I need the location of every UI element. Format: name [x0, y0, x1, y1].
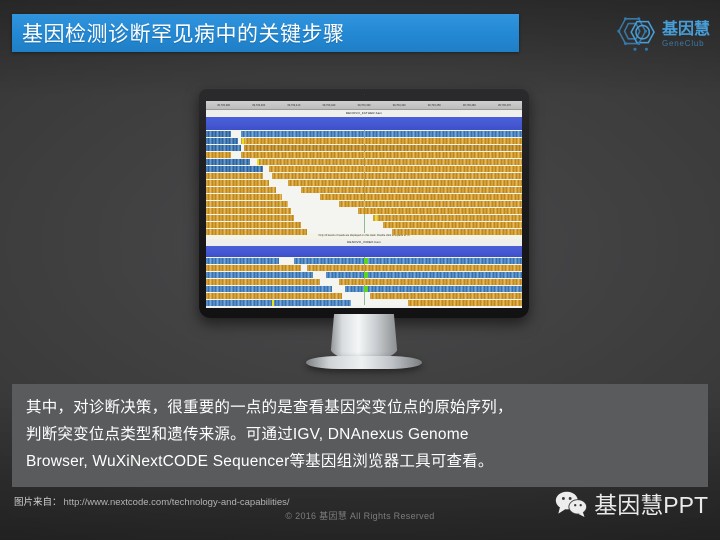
brand-name-cn: 基因慧 — [662, 22, 710, 38]
igv-read-row — [206, 222, 522, 228]
ruler-tick: 39,703,420 — [311, 104, 346, 107]
ruler-tick: 39,703,460 — [452, 104, 487, 107]
igv-coverage-track-top — [206, 117, 522, 130]
ruler-tick: 39,703,400 — [241, 104, 276, 107]
wechat-icon — [554, 490, 588, 517]
igv-read-row — [206, 279, 522, 285]
igv-track-label-top: DENOVO_FATHER.bam — [206, 110, 522, 117]
ruler-tick: 39,703,470 — [487, 104, 522, 107]
monitor-stand-neck — [330, 314, 398, 360]
brand-name-en: GeneClub — [662, 40, 710, 48]
igv-read-row — [206, 229, 522, 235]
source-label: 图片来自： — [14, 494, 62, 508]
igv-read-row — [206, 173, 522, 179]
slide-title-bar: 基因检测诊断罕见病中的关键步骤 — [12, 14, 519, 52]
igv-read-pileup-bottom — [206, 257, 522, 305]
hexagon-gc-logo-icon — [614, 15, 656, 55]
igv-read-row — [206, 300, 522, 306]
igv-read-row — [206, 293, 522, 299]
page-title: 基因检测诊断罕见病中的关键步骤 — [12, 18, 345, 48]
caption-box: 其中，对诊断决策，很重要的一点的是查看基因突变位点的原始序列， 判断突变位点类型… — [12, 384, 708, 487]
igv-track-label-bottom: DENOVO_INDEX.bam — [206, 239, 522, 246]
igv-read-row — [206, 286, 522, 292]
igv-read-pileup-top — [206, 130, 522, 233]
igv-read-row — [206, 194, 522, 200]
igv-coordinate-ruler: 39,703,390 39,703,400 39,703,410 39,703,… — [206, 101, 522, 110]
igv-coverage-track-bottom — [206, 246, 522, 257]
igv-read-row — [206, 145, 522, 151]
ruler-tick: 39,703,450 — [417, 104, 452, 107]
igv-read-row — [206, 265, 522, 271]
igv-screenshot: 39,703,390 39,703,400 39,703,410 39,703,… — [206, 101, 522, 308]
webcam-icon — [363, 93, 366, 96]
wechat-account-badge: 基因慧PPT — [554, 486, 708, 520]
brand-text: 基因慧 GeneClub — [662, 22, 710, 48]
caption-line-3: Browser, WuXiNextCODE Sequencer等基因组浏览器工具… — [26, 448, 694, 475]
wechat-label: 基因慧PPT — [594, 486, 708, 520]
brand-logo: 基因慧 GeneClub — [614, 15, 710, 55]
ruler-tick: 39,703,440 — [382, 104, 417, 107]
igv-read-row — [206, 180, 522, 186]
ruler-tick: 39,703,410 — [276, 104, 311, 107]
source-url[interactable]: http://www.nextcode.com/technology-and-c… — [64, 497, 290, 508]
igv-read-row — [206, 166, 522, 172]
image-source-credit: 图片来自： http://www.nextcode.com/technology… — [14, 494, 290, 508]
ruler-tick: 39,703,430 — [346, 104, 381, 107]
igv-read-row — [206, 215, 522, 221]
igv-read-row — [206, 152, 522, 158]
igv-read-row — [206, 138, 522, 144]
igv-read-row — [206, 159, 522, 165]
caption-line-1: 其中，对诊断决策，很重要的一点的是查看基因突变位点的原始序列， — [26, 394, 694, 421]
monitor-mockup: 39,703,390 39,703,400 39,703,410 39,703,… — [199, 88, 529, 318]
igv-read-row — [206, 208, 522, 214]
caption-line-2: 判断突变位点类型和遗传来源。可通过IGV, DNAnexus Genome — [26, 421, 694, 448]
igv-read-row — [206, 187, 522, 193]
igv-read-row — [206, 272, 522, 278]
ruler-tick: 39,703,390 — [206, 104, 241, 107]
igv-read-row — [206, 131, 522, 137]
igv-read-row — [206, 201, 522, 207]
monitor-stand-base — [306, 356, 422, 369]
igv-read-row — [206, 258, 522, 264]
